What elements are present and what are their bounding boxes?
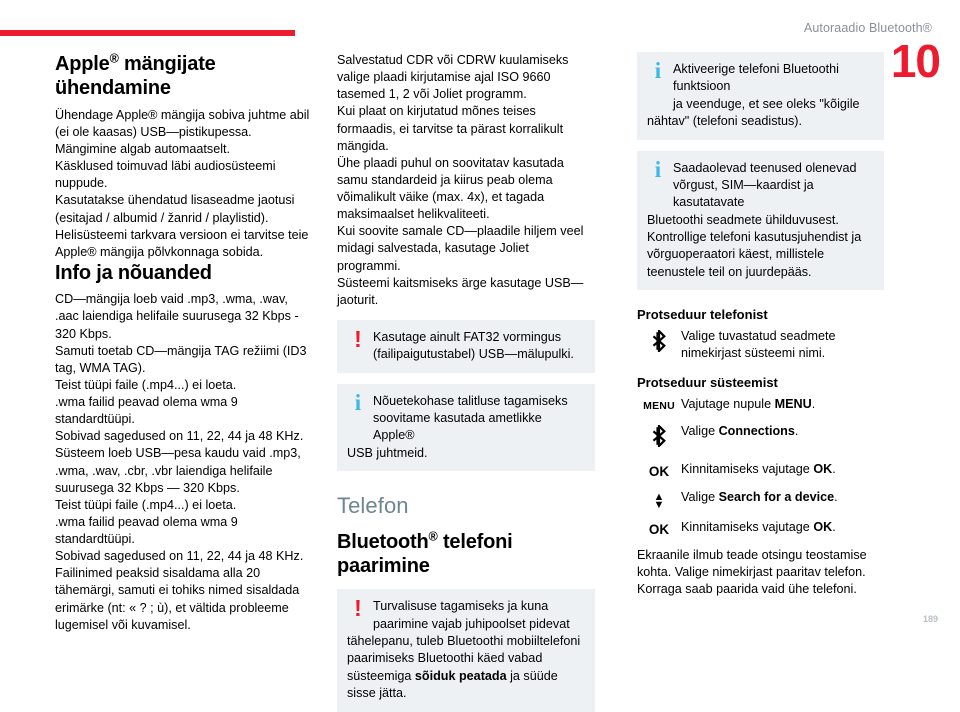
callout-info-apple-cables-line1: Nõuetekohase talitluse tagamiseks (347, 393, 585, 410)
callout-warning-fat32-line2: (failipaigutustabel) USB—mälupulki. (347, 346, 585, 363)
manual-page: { "page": { "running_head": "Autoraadio … (0, 0, 960, 640)
column-1: Apple® mängijate ühendamine Ühendage App… (55, 52, 313, 634)
callout-info-activate-bt-line3: nähtav" (telefoni seadistus). (647, 113, 874, 130)
callout-warning-pairing-line2: paarimine vajab juhipoolset pidevat (347, 616, 585, 633)
info-icon: i (647, 158, 669, 181)
warning-icon: ! (347, 597, 369, 620)
registered-mark: ® (110, 51, 119, 65)
step-confirm-ok-1-text: Kinnitamiseks vajutage OK. (681, 461, 884, 478)
info-icon: i (647, 59, 669, 82)
callout-info-apple-cables-line2: soovitame kasutada ametlikke Apple® (347, 410, 585, 445)
step-text-before: Valige (681, 490, 719, 504)
step-confirm-ok-2[interactable]: OK Kinnitamiseks vajutage OK. (637, 519, 884, 537)
step-text-bold: Connections (719, 424, 795, 438)
bluetooth-icon (637, 423, 681, 451)
step-select-system-name[interactable]: Valige tuvastatud seadmete nimekirjast s… (637, 328, 884, 362)
paragraph-search-result: Ekraanile ilmub teade otsingu teostamise… (637, 547, 884, 598)
step-text-before: Kinnitamiseks vajutage (681, 462, 813, 476)
step-text-before: Valige (681, 424, 719, 438)
running-head: Autoraadio Bluetooth® (804, 21, 932, 35)
callout-info-services-rest: Bluetoothi seadmete ühilduvusest. Kontro… (647, 212, 874, 282)
paragraph-cdr-info: Salvestatud CDR või CDRW kuulamiseks val… (337, 52, 595, 309)
step-text-bold: OK (813, 520, 832, 534)
pairing-text-bold: sõiduk peatada (415, 669, 507, 683)
step-confirm-ok-2-text: Kinnitamiseks vajutage OK. (681, 519, 884, 536)
step-text-before: Vajutage nupule (681, 397, 775, 411)
callout-warning-fat32: ! Kasutage ainult FAT32 vormingus (faili… (337, 320, 595, 373)
heading-telefon: Telefon (337, 493, 595, 519)
step-text-bold: Search for a device (719, 490, 835, 504)
step-select-system-name-text: Valige tuvastatud seadmete nimekirjast s… (681, 328, 884, 362)
chapter-number: 10 (891, 38, 940, 84)
heading-bluetooth-part1: Bluetooth (337, 531, 429, 553)
step-text-before: Kinnitamiseks vajutage (681, 520, 813, 534)
heading-apple-part1: Apple (55, 53, 110, 75)
ok-button-icon[interactable]: OK (637, 461, 681, 479)
heading-procedure-system: Protseduur süsteemist (637, 375, 884, 391)
step-select-connections-text: Valige Connections. (681, 423, 884, 440)
step-select-connections[interactable]: Valige Connections. (637, 423, 884, 451)
callout-info-services-line2: võrgust, SIM—kaardist ja kasutatavate (647, 177, 874, 212)
up-down-arrows-icon[interactable]: ▲ ▼ (637, 489, 681, 509)
step-press-menu[interactable]: MENU Vajutage nupule MENU. (637, 396, 884, 413)
paragraph-apple-connect: Ühendage Apple® mängija sobiva juhtme ab… (55, 107, 313, 261)
callout-info-apple-cables-line3: USB juhtmeid. (347, 445, 585, 462)
info-icon: i (347, 391, 369, 414)
heading-info-tips: Info ja nõuanded (55, 261, 313, 285)
step-text-bold: OK (813, 462, 832, 476)
menu-button-icon[interactable]: MENU (637, 396, 681, 412)
callout-info-services-line1: Saadaolevad teenused olenevad (647, 160, 874, 177)
paragraph-info-tips: CD—mängija loeb vaid .mp3, .wma, .wav, .… (55, 291, 313, 634)
callout-info-activate-bt-line1: Aktiveerige telefoni Bluetoothi funktsio… (647, 61, 874, 96)
column-2: Salvestatud CDR või CDRW kuulamiseks val… (337, 52, 595, 712)
registered-mark: ® (429, 529, 438, 543)
header-red-rule (0, 30, 295, 36)
step-confirm-ok-1[interactable]: OK Kinnitamiseks vajutage OK. (637, 461, 884, 479)
heading-procedure-phone: Protseduur telefonist (637, 307, 884, 323)
step-text-bold: MENU (775, 397, 812, 411)
step-text-after: . (832, 462, 836, 476)
heading-apple-connect: Apple® mängijate ühendamine (55, 52, 313, 101)
callout-warning-pairing: ! Turvalisuse tagamiseks ja kuna paarimi… (337, 589, 595, 711)
callout-warning-pairing-rest: tähelepanu, tuleb Bluetoothi mobiiltelef… (347, 633, 585, 703)
callout-info-services: i Saadaolevad teenused olenevad võrgust,… (637, 151, 884, 291)
step-text-after: . (832, 520, 836, 534)
callout-info-activate-bt-line2: ja veenduge, et see oleks "kõigile (647, 96, 874, 113)
step-text-after: . (812, 397, 816, 411)
column-3: i Aktiveerige telefoni Bluetoothi funkts… (637, 52, 884, 598)
callout-info-apple-cables: i Nõuetekohase talitluse tagamiseks soov… (337, 384, 595, 472)
callout-warning-pairing-line1: Turvalisuse tagamiseks ja kuna (347, 598, 585, 615)
step-press-menu-text: Vajutage nupule MENU. (681, 396, 884, 413)
step-search-for-device-text: Valige Search for a device. (681, 489, 884, 506)
ok-button-icon[interactable]: OK (637, 519, 681, 537)
warning-icon: ! (347, 328, 369, 351)
step-text-after: . (834, 490, 838, 504)
bluetooth-icon (637, 328, 681, 356)
callout-info-activate-bt: i Aktiveerige telefoni Bluetoothi funkts… (637, 52, 884, 140)
step-text-after: . (795, 424, 799, 438)
page-number: 189 (923, 614, 938, 624)
step-search-for-device[interactable]: ▲ ▼ Valige Search for a device. (637, 489, 884, 509)
callout-warning-fat32-line1: Kasutage ainult FAT32 vormingus (347, 329, 585, 346)
arrow-down-icon[interactable]: ▼ (637, 501, 681, 509)
heading-bluetooth-pairing: Bluetooth® telefoni paarimine (337, 530, 595, 579)
